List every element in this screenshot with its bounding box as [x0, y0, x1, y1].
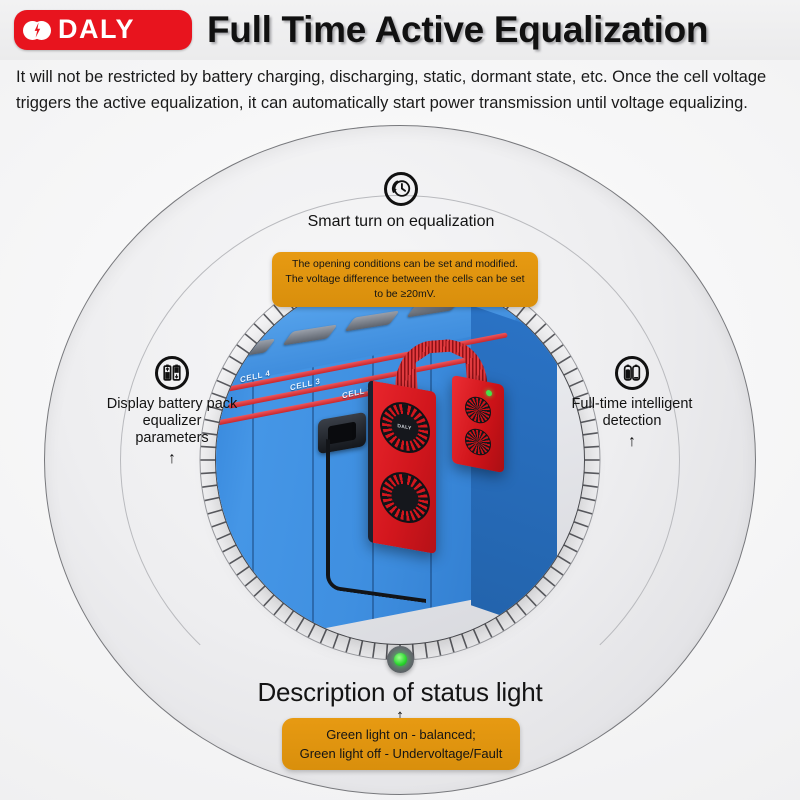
bms-board: DALY — [368, 380, 436, 554]
cell-label: CELL 4 — [240, 369, 271, 385]
green-status-led-icon — [387, 646, 414, 673]
page-title: Full Time Active Equalization — [207, 9, 708, 51]
callout-smart-turn-on: Smart turn on equalization — [303, 172, 499, 231]
status-light-title: Description of status light — [0, 677, 800, 708]
daly-logo-mark-icon — [23, 16, 52, 45]
cell-label: CELL 2 — [342, 385, 373, 401]
banner-bottom-line1: Green light on - balanced; — [292, 725, 510, 744]
callout-fulltime-detection: Full-time intelligent detection ↑ — [570, 356, 694, 450]
black-cable — [326, 439, 426, 603]
callout-display-parameters: Display battery pack equalizer parameter… — [104, 356, 240, 467]
callout-status-light: Description of status light ↑ — [0, 646, 800, 726]
intro-paragraph: It will not be restricted by battery cha… — [16, 64, 788, 116]
callout-top-label: Smart turn on equalization — [303, 212, 499, 231]
callout-left-arrow: ↑ — [104, 451, 240, 467]
cell-label: CELL 1 — [394, 393, 425, 409]
callout-top-banner: The opening conditions can be set and mo… — [272, 252, 538, 307]
banner-bottom-line2: Green light off - Undervoltage/Fault — [292, 744, 510, 763]
battery-transfer-icon — [155, 356, 189, 390]
page-header: DALY Full Time Active Equalization — [0, 0, 800, 60]
ac-inlet-connector — [318, 412, 366, 454]
tick-marks-icon — [198, 258, 602, 662]
cell-label: CELL 3 — [290, 377, 321, 393]
banner-top-line2: The voltage difference between the cells… — [282, 272, 528, 302]
ribbon-cable — [392, 337, 487, 395]
daly-logo-text: DALY — [58, 16, 135, 45]
callout-left-label: Display battery pack equalizer parameter… — [104, 396, 240, 447]
active-balancer-module — [452, 375, 504, 473]
clock-refresh-icon — [384, 172, 418, 206]
callout-right-arrow: ↑ — [570, 434, 694, 450]
banner-top-line1: The opening conditions can be set and mo… — [282, 257, 528, 272]
battery-levels-icon — [615, 356, 649, 390]
status-light-banner: Green light on - balanced; Green light o… — [282, 718, 520, 770]
daly-logo: DALY — [14, 10, 192, 50]
bms-brand-label: DALY — [397, 423, 411, 432]
product-image: CELL 4 CELL 3 CELL 2 CELL 1 DALY — [216, 276, 584, 644]
balancer-led-icon — [486, 390, 492, 397]
gauge-tick-ring — [198, 258, 602, 662]
callout-right-label: Full-time intelligent detection — [570, 396, 694, 430]
